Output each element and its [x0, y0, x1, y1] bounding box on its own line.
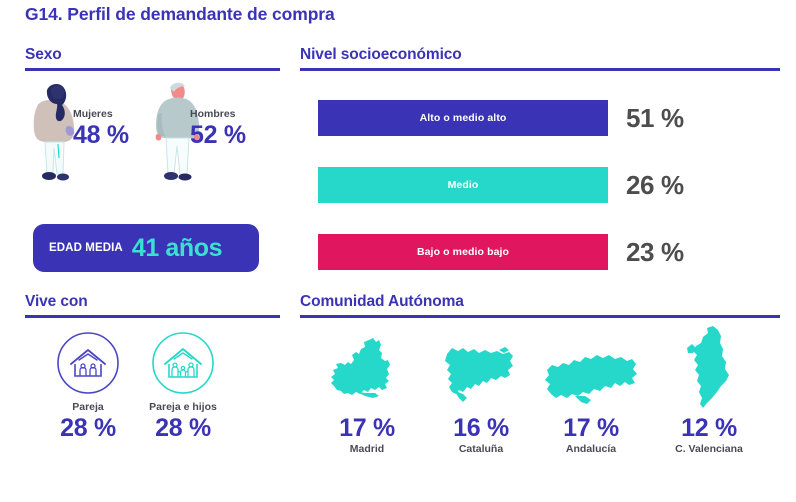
section-nivel-socioeconomico: Nivel socioeconómico: [300, 46, 780, 71]
nivel-bar-chart: Alto o medio alto 51 % Medio 26 % Bajo o…: [318, 100, 780, 270]
section-heading-nivel: Nivel socioeconómico: [300, 46, 780, 64]
comunidad-label: C. Valenciana: [650, 442, 768, 456]
comunidad-label: Cataluña: [422, 442, 540, 456]
edad-media-value: 41 años: [132, 234, 222, 263]
vive-con-label: Pareja e hijos: [130, 401, 236, 414]
section-comunidad-autonoma: Comunidad Autónoma: [300, 293, 780, 318]
house-couple-icon: [55, 330, 121, 396]
sexo-stat-mujeres: Mujeres 48 %: [73, 108, 129, 149]
comunidad-item-madrid: 17 % Madrid: [308, 332, 426, 456]
vive-con-label: Pareja: [35, 401, 141, 414]
bar-medio: Medio: [318, 167, 608, 203]
section-rule-vive-con: [25, 315, 280, 318]
vive-con-item-pareja-e-hijos: Pareja e hijos 28 %: [130, 330, 236, 442]
map-cataluna-icon: [422, 332, 540, 410]
bar-value: 51 %: [626, 103, 684, 134]
vive-con-value: 28 %: [130, 414, 236, 442]
sexo-pct-mujeres: 48 %: [73, 121, 129, 149]
section-vive-con: Vive con: [25, 293, 280, 318]
section-heading-comunidad: Comunidad Autónoma: [300, 293, 780, 311]
bar-label: Medio: [448, 179, 479, 191]
vive-con-item-pareja: Pareja 28 %: [35, 330, 141, 442]
comunidad-item-comunidad-valenciana: 12 % C. Valenciana: [650, 332, 768, 456]
map-comunidad-valenciana-icon: [650, 332, 768, 410]
house-family-icon: [150, 330, 216, 396]
edad-media-badge: EDAD MEDIA 41 años: [33, 224, 259, 272]
section-heading-vive-con: Vive con: [25, 293, 280, 311]
bar-alto-o-medio-alto: Alto o medio alto: [318, 100, 608, 136]
bar-bajo-o-medio-bajo: Bajo o medio bajo: [318, 234, 608, 270]
comunidad-label: Andalucía: [532, 442, 650, 456]
comunidad-value: 12 %: [650, 414, 768, 442]
section-sexo: Sexo: [25, 46, 280, 71]
sexo-pct-hombres: 52 %: [190, 121, 246, 149]
infographic-page: G14. Perfil de demandante de compra Sexo: [0, 0, 796, 502]
section-heading-sexo: Sexo: [25, 46, 280, 64]
comunidad-item-andalucia: 17 % Andalucía: [532, 332, 650, 456]
comunidad-label: Madrid: [308, 442, 426, 456]
bar-label: Alto o medio alto: [420, 112, 507, 124]
bar-label: Bajo o medio bajo: [417, 246, 509, 258]
comunidad-value: 17 %: [532, 414, 650, 442]
bar-row: Alto o medio alto 51 %: [318, 100, 780, 136]
comunidad-value: 17 %: [308, 414, 426, 442]
section-rule-comunidad: [300, 315, 780, 318]
section-rule-sexo: [25, 68, 280, 71]
section-rule-nivel: [300, 68, 780, 71]
bar-value: 23 %: [626, 237, 684, 268]
sexo-stat-hombres: Hombres 52 %: [190, 108, 246, 149]
map-madrid-icon: [308, 332, 426, 410]
bar-row: Medio 26 %: [318, 167, 780, 203]
page-title: G14. Perfil de demandante de compra: [25, 4, 335, 25]
edad-media-label: EDAD MEDIA: [49, 242, 123, 254]
sexo-label-hombres: Hombres: [190, 108, 246, 121]
sexo-label-mujeres: Mujeres: [73, 108, 129, 121]
comunidad-value: 16 %: [422, 414, 540, 442]
bar-value: 26 %: [626, 170, 684, 201]
bar-row: Bajo o medio bajo 23 %: [318, 234, 780, 270]
vive-con-value: 28 %: [35, 414, 141, 442]
comunidad-item-cataluna: 16 % Cataluña: [422, 332, 540, 456]
map-andalucia-icon: [532, 332, 650, 410]
